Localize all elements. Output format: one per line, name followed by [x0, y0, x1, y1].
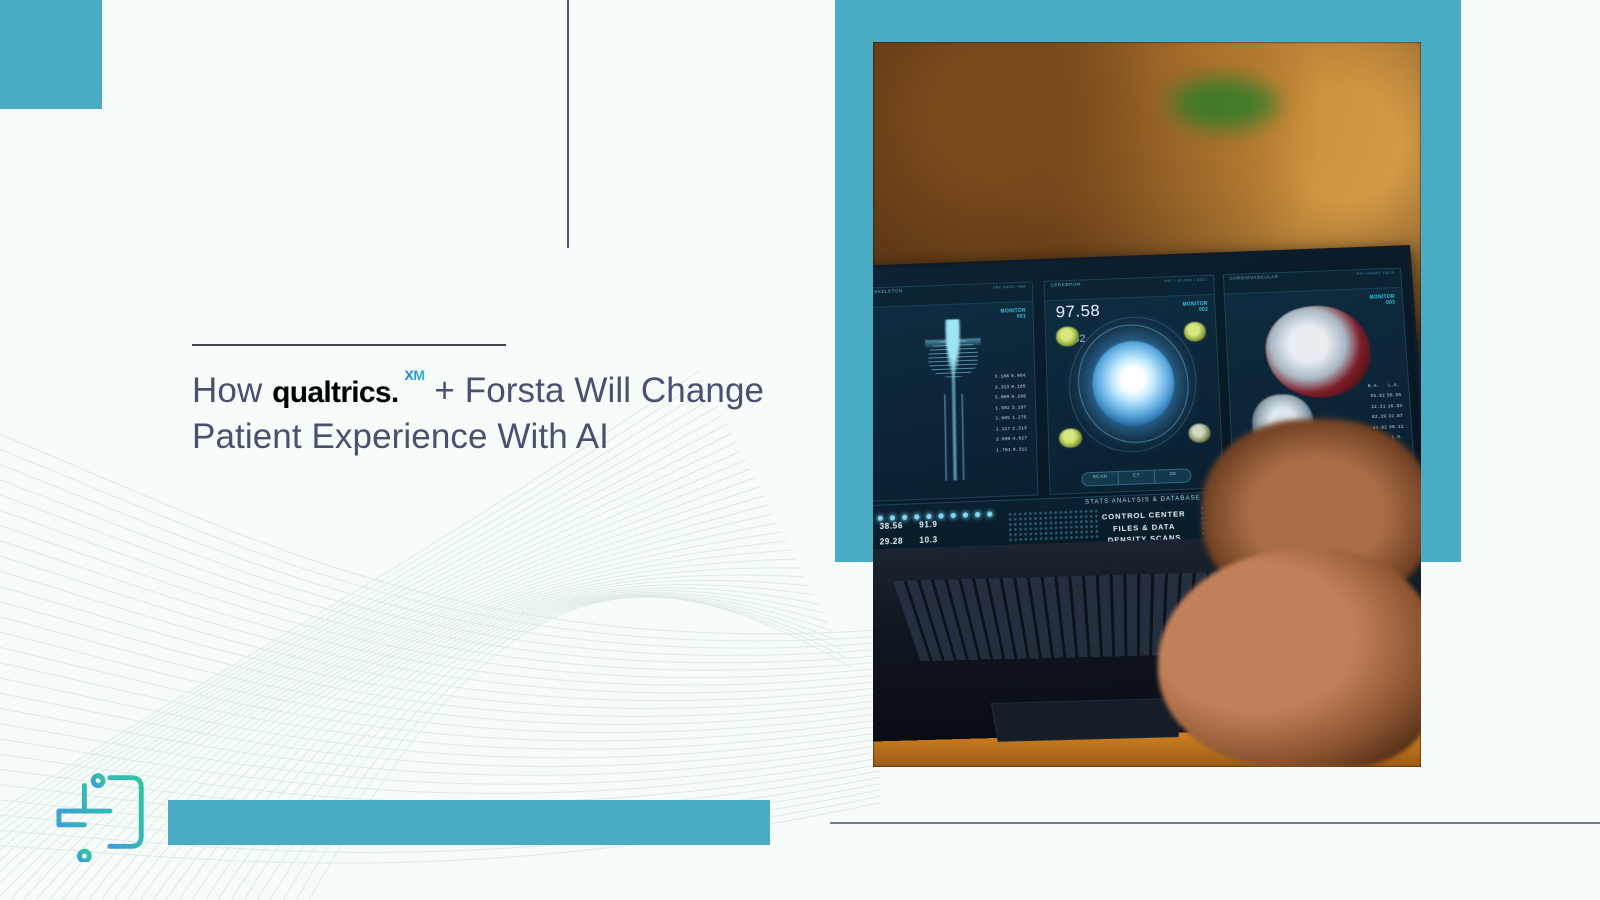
photo-bokeh-green	[1158, 71, 1290, 136]
panel-brain: CEREBRUMPAT / SCANS / 2021 97.58 44.82 M…	[1043, 275, 1224, 495]
skeleton-ribs	[928, 339, 978, 379]
panel-header-bar: CEREBRUMPAT / SCANS / 2021	[1044, 276, 1213, 301]
table-cell: 1.117	[995, 426, 1010, 435]
laptop-trackpad	[990, 697, 1181, 741]
table-cell: 63.29	[1371, 414, 1386, 423]
scan-blob-top-left	[1056, 327, 1079, 347]
table-cell: 1.002	[995, 405, 1010, 414]
table-row: 12.2116.93	[1371, 403, 1403, 413]
vital-primary-value: 97.58	[1055, 301, 1100, 322]
table-row: 1.0023.197	[995, 404, 1026, 414]
table-row: 1.8851.276	[995, 415, 1026, 425]
qualtrics-wordmark: qualtrics.	[272, 376, 398, 409]
title-line-two: Patient Experience With AI	[192, 417, 609, 456]
table-cell: 0.311	[1012, 446, 1027, 455]
skeleton-legs	[935, 394, 973, 481]
scan-blob-top-right	[1183, 322, 1206, 342]
table-cell: 0.165	[1011, 383, 1026, 392]
table-cell: 55.82	[1370, 393, 1385, 402]
page-title: How qualtrics.XM + Forsta Will Change Pa…	[192, 368, 812, 459]
panel-header-meta: PAT / SCANS / 2021	[1164, 277, 1207, 283]
title-rule	[192, 344, 506, 346]
scan-button[interactable]: 3D	[1155, 469, 1191, 482]
panel-header-bar: CARDIOVASCULARPAT HEART DATA	[1223, 269, 1401, 294]
bottom-horizontal-rule	[830, 822, 1600, 824]
scan-mode-buttons[interactable]: SCANCT3D	[1081, 468, 1192, 486]
table-cell: 56.55	[1386, 392, 1401, 401]
scan-button[interactable]: SCAN	[1082, 472, 1119, 485]
table-cell: 22.87	[1388, 413, 1403, 422]
hero-photo: SKELETONPAT DATA / MM MONITOR001 3.1880.…	[873, 42, 1421, 767]
table-row: 2.9904.027	[996, 436, 1027, 446]
scan-blob-bottom-right	[1187, 423, 1210, 443]
table-cell: 12.21	[1371, 404, 1386, 413]
table-cell: 1.885	[995, 415, 1010, 424]
panel-skeleton: SKELETONPAT DATA / MM MONITOR001 3.1880.…	[873, 282, 1038, 502]
monitor-label-001: MONITOR001	[1000, 308, 1026, 321]
table-cell: 3.197	[1011, 404, 1026, 413]
panel-header-title: SKELETON	[874, 289, 902, 295]
monitor-label-003: MONITOR003	[1369, 294, 1395, 307]
table-row: 3.3130.165	[994, 383, 1025, 393]
panel-header-meta: PAT HEART DATA	[1356, 270, 1394, 276]
heart-model-3d	[1258, 297, 1378, 406]
table-row: 5.0090.296	[995, 394, 1026, 404]
table-cell: 90.12	[1388, 424, 1403, 433]
table-row: 55.8256.55	[1370, 392, 1402, 402]
h-circuit-logo	[55, 762, 153, 862]
title-middle: + Forsta Will Change	[425, 371, 765, 410]
title-prefix: How	[192, 371, 272, 410]
accent-square-top-left	[0, 0, 102, 109]
table-cell: 3.313	[994, 384, 1009, 393]
table-row: 1.7810.311	[996, 446, 1027, 456]
table-cell: 16.93	[1387, 403, 1402, 412]
panel-header-title: CARDIOVASCULAR	[1229, 275, 1278, 282]
table-cell: 0.904	[1011, 373, 1026, 382]
skeleton-readout-numbers: 3.1880.9043.3130.1655.0090.2961.0023.197…	[992, 371, 1029, 458]
monitor-label-002: MONITOR002	[1182, 301, 1208, 314]
vertical-divider	[567, 0, 569, 248]
table-cell: 5.009	[995, 394, 1010, 403]
title-block: How qualtrics.XM + Forsta Will Change Pa…	[192, 344, 812, 459]
scan-button[interactable]: CT	[1118, 471, 1155, 484]
bottom-accent-bar	[168, 800, 770, 845]
panel-header-title: CEREBRUM	[1050, 282, 1080, 288]
table-cell: 3.188	[994, 374, 1009, 383]
table-row: 1.1172.313	[995, 425, 1026, 435]
table-cell: 0.296	[1011, 394, 1026, 403]
presentation-slide: How qualtrics.XM + Forsta Will Change Pa…	[0, 0, 1600, 900]
qualtrics-xm-superscript: XM	[405, 366, 425, 384]
table-cell: 4.027	[1012, 436, 1027, 445]
table-cell: 1.781	[996, 447, 1011, 456]
qualtrics-logo: qualtrics.XM	[272, 373, 398, 412]
table-cell: 1.276	[1012, 415, 1027, 424]
scan-blob-bottom-left	[1059, 428, 1082, 448]
table-row: 63.2922.87	[1371, 413, 1403, 423]
table-row: 3.1880.904	[994, 373, 1025, 383]
panel-header-bar: SKELETONPAT DATA / MM	[873, 283, 1032, 308]
table-cell: 2.990	[996, 436, 1011, 445]
panel-header-meta: PAT DATA / MM	[993, 284, 1026, 290]
table-cell: 2.313	[1012, 425, 1027, 434]
